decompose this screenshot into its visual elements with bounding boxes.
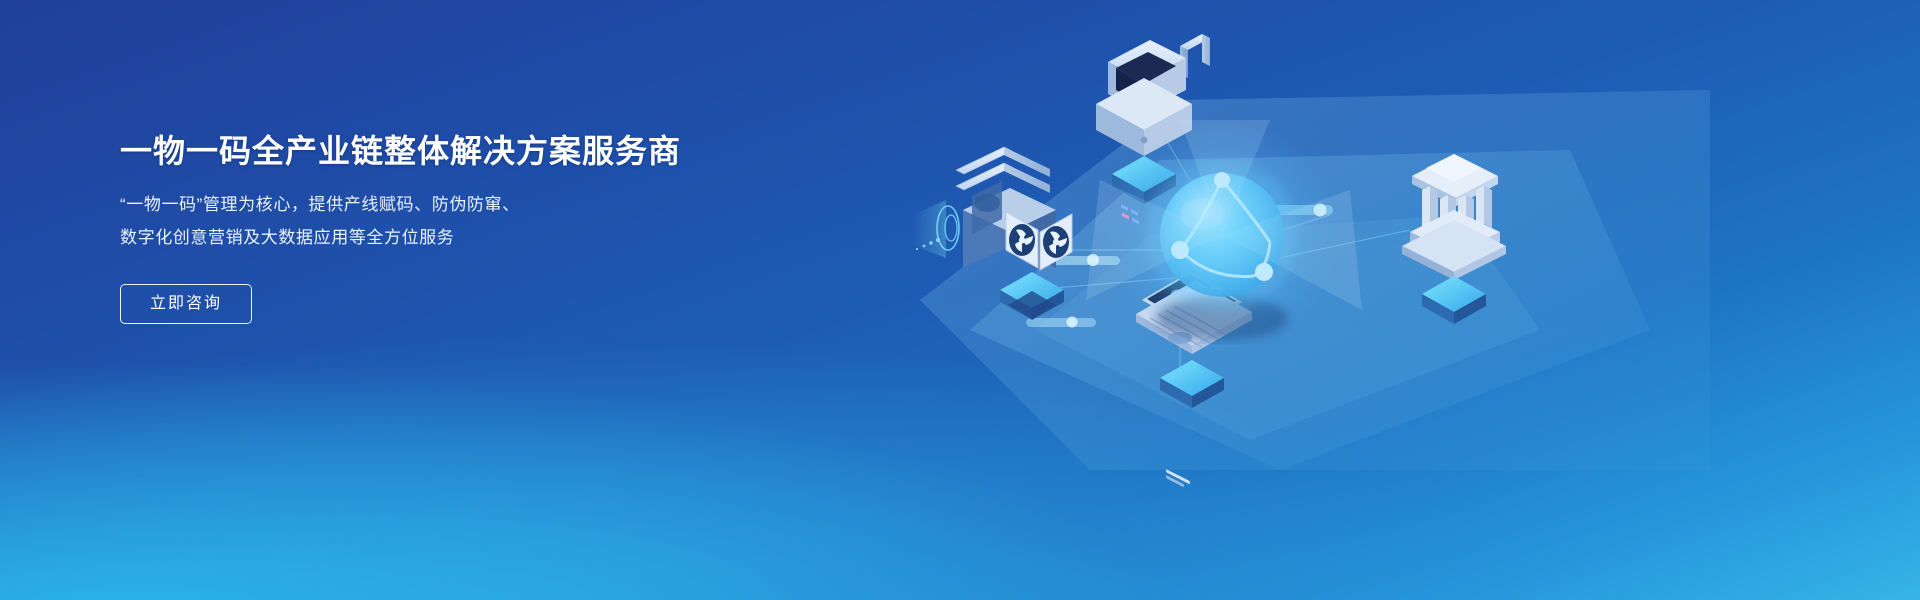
hero-copy-block: 一物一码全产业链整体解决方案服务商 “一物一码”管理为核心，提供产线赋码、防伪防… (120, 128, 740, 324)
page-title: 一物一码全产业链整体解决方案服务商 (120, 128, 740, 174)
isometric-scene (850, 0, 1710, 600)
hero-subtitle-line-1: “一物一码”管理为核心，提供产线赋码、防伪防窜、 (120, 188, 740, 221)
consult-now-button[interactable]: 立即咨询 (120, 284, 252, 324)
hero-banner: 一物一码全产业链整体解决方案服务商 “一物一码”管理为核心，提供产线赋码、防伪防… (0, 0, 1920, 600)
hero-subtitle-line-2: 数字化创意营销及大数据应用等全方位服务 (120, 221, 740, 254)
data-packet-lower (1026, 317, 1096, 328)
hero-illustration (850, 0, 1710, 600)
